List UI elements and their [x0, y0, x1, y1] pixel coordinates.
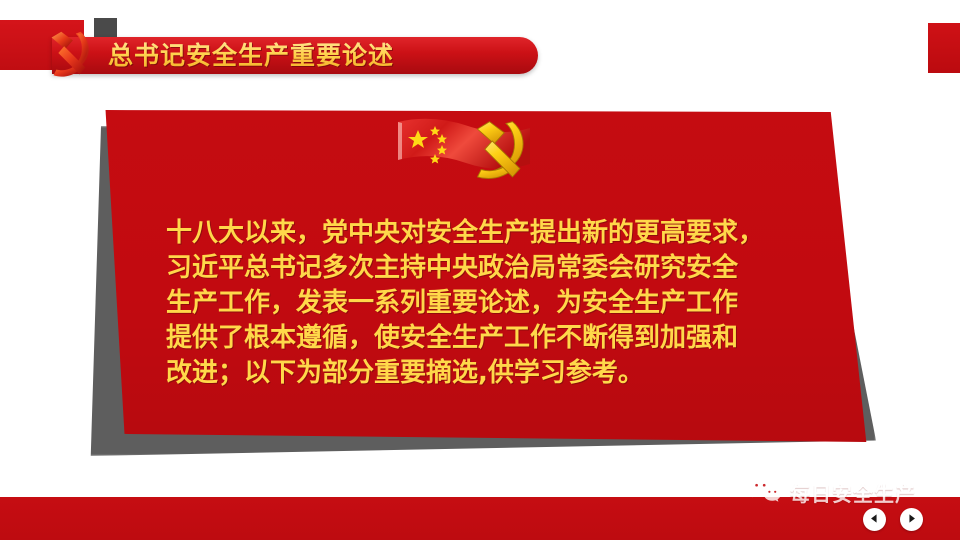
card-body-text: 十八大以来，党中央对安全生产提出新的更高要求， 习近平总书记多次主持中央政治局常… [166, 216, 826, 391]
card-text-line: 十八大以来，党中央对安全生产提出新的更高要求， [166, 216, 826, 251]
wechat-logo-icon [748, 477, 782, 507]
prev-slide-button[interactable] [863, 508, 886, 531]
next-slide-button[interactable] [900, 508, 923, 531]
watermark: 每日安全生产 [748, 477, 916, 507]
slide-navigation [863, 508, 923, 531]
page-title: 总书记安全生产重要论述 [108, 38, 394, 74]
arrow-left-icon [869, 512, 880, 527]
hammer-sickle-emblem-icon [38, 22, 100, 84]
card-text-line: 习近平总书记多次主持中央政治局常委会研究安全 [166, 251, 826, 286]
card-text-line: 提供了根本遵循，使安全生产工作不断得到加强和 [166, 321, 826, 356]
arrow-right-icon [906, 512, 917, 527]
china-flag-with-gold-hammer-sickle-icon [380, 112, 550, 192]
slide-root: 总书记安全生产重要论述 [0, 0, 960, 540]
watermark-label: 每日安全生产 [790, 478, 916, 507]
card-text-line: 生产工作，发表一系列重要论述，为安全生产工作 [166, 286, 826, 321]
top-right-red-block [928, 23, 960, 73]
card-text-line: 改进；以下为部分重要摘选,供学习参考。 [166, 356, 826, 391]
